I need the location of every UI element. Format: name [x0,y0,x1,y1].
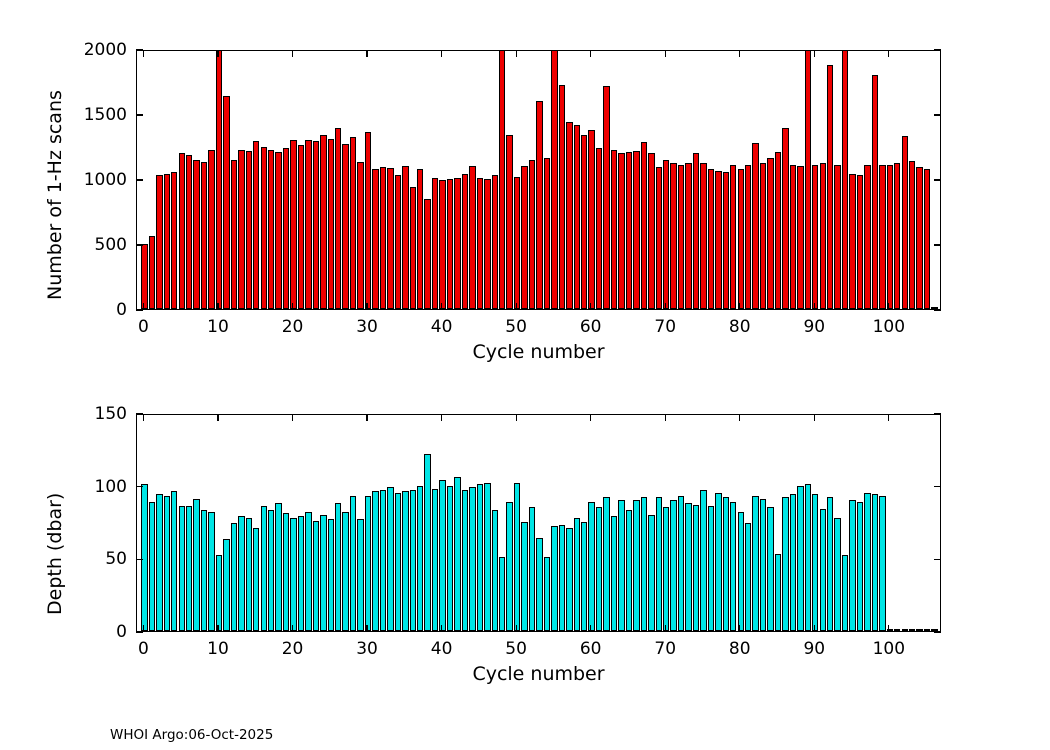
x-tick-mark [217,303,218,310]
bar [357,519,363,631]
bar [648,515,654,631]
bar [469,166,475,309]
bar [439,180,445,309]
bar [164,174,170,309]
bar [797,166,803,309]
x-tick-mark [217,414,218,421]
bar [790,494,796,631]
x-tick-mark [888,625,889,632]
x-axis-label-nscans: Cycle number [136,341,941,363]
bar [812,494,818,631]
y-tick-label: 2000 [0,40,127,60]
x-tick-mark [366,303,367,310]
x-tick-mark [590,625,591,632]
bar [298,516,304,631]
bar [223,539,229,631]
bar [730,502,736,631]
bar [827,497,833,631]
bar [268,150,274,309]
bar [179,506,185,631]
bar [186,155,192,309]
footer-credit: WHOI Argo:06-Oct-2025 [110,727,273,743]
bar [484,179,490,309]
bar [223,96,229,309]
bar [566,122,572,309]
bar [708,506,714,631]
x-tick-mark [590,414,591,421]
x-tick-mark [441,414,442,421]
bar [700,163,706,309]
bar [864,165,870,309]
bar [447,179,453,309]
y-tick-mark [136,559,143,560]
bar [849,174,855,309]
bar [246,518,252,631]
bar [633,151,639,309]
x-tick-mark [590,303,591,310]
bar [499,557,505,631]
x-tick-mark [292,50,293,57]
bar [834,165,840,309]
bar [656,497,662,631]
bar [410,490,416,631]
bar [275,503,281,631]
bar [894,163,900,309]
panel-nscans: 11027: 1-Hz Nscans 0500100015002000 0102… [0,0,1050,370]
bar [775,554,781,631]
x-tick-label: 0 [138,317,149,337]
x-tick-mark [292,303,293,310]
bar [916,167,922,309]
x-tick-label: 100 [873,639,905,659]
x-tick-mark [366,50,367,57]
y-tick-label: 0 [0,622,127,642]
bar [551,50,557,309]
x-tick-label: 70 [654,639,676,659]
y-tick-mark [934,244,941,245]
bar [909,629,915,631]
bar [156,494,162,631]
y-tick-label: 150 [0,404,127,424]
bar [693,505,699,631]
bar [618,153,624,309]
bar [574,518,580,631]
x-tick-label: 10 [207,639,229,659]
bar [834,518,840,631]
bar [298,145,304,309]
bar [663,160,669,309]
bar [544,158,550,309]
bar [708,169,714,309]
y-tick-label: 0 [0,300,127,320]
x-tick-mark [739,625,740,632]
bar [805,484,811,631]
bar [454,178,460,309]
bar [544,557,550,631]
bar [395,493,401,631]
x-tick-label: 60 [580,317,602,337]
bar [432,489,438,631]
bar [246,151,252,309]
bar [492,510,498,631]
y-tick-mark [136,114,143,115]
bar [648,153,654,309]
bar [857,175,863,309]
bar [588,130,594,309]
x-tick-label: 10 [207,317,229,337]
bar [767,507,773,631]
bar [738,169,744,309]
bar [365,132,371,309]
bar [335,503,341,631]
bar-series-nscans [137,51,940,309]
bar [357,162,363,309]
bar [439,480,445,631]
bar [447,486,453,631]
y-tick-mark [136,179,143,180]
bar [350,137,356,309]
bar [156,175,162,309]
bar [328,139,334,309]
bar [193,499,199,631]
x-tick-mark [739,303,740,310]
bar [551,526,557,631]
bar [596,148,602,309]
x-tick-label: 20 [282,639,304,659]
bar [149,502,155,631]
bar [432,178,438,309]
x-tick-label: 20 [282,317,304,337]
bar [477,178,483,309]
bar [320,135,326,309]
bar [350,496,356,631]
bar [879,496,885,631]
x-tick-mark [814,50,815,57]
bar [469,487,475,631]
x-tick-mark [739,50,740,57]
y-axis-label-nscans: Number of 1-Hz scans [44,90,66,300]
y-tick-mark [934,309,941,310]
x-tick-label: 40 [431,639,453,659]
bar [179,153,185,309]
bar [715,493,721,631]
bar [305,512,311,631]
x-tick-label: 60 [580,639,602,659]
x-tick-mark [665,303,666,310]
bar [566,528,572,631]
bar [827,65,833,309]
bar [559,85,565,309]
bar [633,500,639,631]
bar [238,150,244,309]
x-tick-mark [665,50,666,57]
bar [462,490,468,631]
x-tick-mark [665,625,666,632]
bar [782,497,788,631]
y-tick-mark [136,486,143,487]
bar [193,160,199,310]
bar [283,513,289,631]
bar [417,486,423,631]
x-tick-label: 70 [654,317,676,337]
bar [581,522,587,631]
x-tick-mark [366,414,367,421]
bar [514,483,520,631]
bar [790,165,796,309]
bar [894,629,900,631]
bar [253,528,259,631]
bar [365,496,371,631]
bar [402,491,408,631]
bar [820,163,826,309]
y-tick-mark [934,114,941,115]
axes-depth: 11027: possible depth of hi-res if full … [136,414,941,632]
axes-nscans: 11027: 1-Hz Nscans [136,50,941,310]
bar [745,165,751,309]
x-tick-mark [143,625,144,632]
bar [417,169,423,309]
bar [700,490,706,631]
y-axis-label-depth: Depth (dbar) [44,493,66,615]
bar [574,125,580,309]
bar [253,141,259,309]
bar [857,502,863,631]
bar [678,496,684,631]
bar [268,510,274,631]
bar [313,521,319,631]
bar [387,168,393,309]
x-tick-mark [888,303,889,310]
bar [559,525,565,631]
bar [536,101,542,309]
x-tick-label: 90 [803,639,825,659]
bar [529,160,535,310]
bar [231,523,237,631]
bar [477,484,483,631]
bar [745,523,751,631]
bar [484,483,490,631]
bar [261,147,267,310]
bar [738,512,744,631]
bar [141,244,147,309]
bar [499,50,505,309]
x-tick-mark [217,50,218,57]
bar [916,629,922,631]
bar [626,152,632,309]
bar [506,502,512,631]
bar [283,148,289,309]
bar [313,141,319,309]
bar [641,142,647,309]
bar [186,506,192,631]
x-tick-mark [143,303,144,310]
x-tick-mark [441,303,442,310]
bar [842,555,848,631]
bar [879,165,885,309]
bar [715,171,721,309]
bar [603,86,609,309]
x-tick-mark [516,625,517,632]
bar [261,506,267,631]
bar [171,491,177,631]
bar [171,172,177,309]
bar [506,135,512,309]
bar [216,555,222,631]
bar [596,507,602,631]
bar [805,50,811,309]
bar [782,128,788,309]
bar [216,50,222,309]
x-tick-mark [143,50,144,57]
bar [618,500,624,631]
bar [290,518,296,631]
bar [767,158,773,309]
panel-depth: 11027: possible depth of hi-res if full … [0,370,1050,740]
bar [588,502,594,631]
figure-root: 11027: 1-Hz Nscans 0500100015002000 0102… [0,0,1050,750]
bar [201,510,207,631]
bar [342,512,348,631]
bar [641,497,647,631]
bar [402,166,408,309]
bar [208,150,214,309]
x-tick-label: 90 [803,317,825,337]
bar [275,152,281,309]
x-tick-mark [888,50,889,57]
bar [164,496,170,631]
x-tick-label: 80 [729,317,751,337]
bar [663,507,669,631]
bar [864,493,870,631]
bar [760,499,766,631]
bar [521,522,527,631]
x-axis-label-depth: Cycle number [136,663,941,685]
x-tick-mark [217,625,218,632]
bar [723,172,729,309]
bar [752,143,758,309]
bar [670,500,676,631]
bar [424,199,430,310]
bar [887,165,893,309]
bar [238,516,244,631]
x-tick-label: 30 [356,317,378,337]
bar [492,175,498,309]
bar [410,187,416,309]
bar [902,136,908,309]
x-tick-mark [516,303,517,310]
x-tick-mark [516,50,517,57]
bar [685,163,691,309]
bar [305,140,311,309]
bar [760,163,766,309]
bar [536,538,542,631]
bar [909,161,915,309]
bar [685,503,691,631]
bar [849,500,855,631]
bar [335,128,341,309]
bar [872,494,878,631]
y-tick-mark [934,49,941,50]
bar [454,477,460,631]
x-tick-label: 50 [505,317,527,337]
bar [290,140,296,309]
bar [149,236,155,309]
x-tick-mark [888,414,889,421]
bar [521,166,527,309]
x-tick-mark [441,50,442,57]
x-tick-mark [516,414,517,421]
bar [812,165,818,309]
bar [529,507,535,631]
bar [581,135,587,309]
bar [208,512,214,631]
x-tick-label: 0 [138,639,149,659]
bar [752,496,758,631]
bar [387,487,393,631]
x-tick-mark [441,625,442,632]
x-tick-mark [590,50,591,57]
bar [372,169,378,309]
bar [626,510,632,631]
y-tick-mark [934,486,941,487]
bar [924,629,930,631]
bar [611,150,617,309]
bar [320,515,326,631]
bar [678,165,684,309]
bar [395,175,401,309]
x-tick-label: 40 [431,317,453,337]
bar [775,152,781,309]
y-tick-mark [934,559,941,560]
bar [201,162,207,309]
bar [372,491,378,631]
bar [380,167,386,309]
x-tick-mark [665,414,666,421]
x-tick-label: 30 [356,639,378,659]
bar [231,160,237,310]
y-tick-mark [934,413,941,414]
x-tick-mark [143,414,144,421]
bar [342,144,348,309]
bar [924,169,930,309]
x-tick-mark [366,625,367,632]
bar [820,509,826,631]
bar [723,497,729,631]
x-tick-mark [739,414,740,421]
y-tick-mark [934,631,941,632]
x-tick-mark [814,303,815,310]
x-tick-label: 80 [729,639,751,659]
bar [328,519,334,631]
x-tick-mark [814,414,815,421]
bar [693,153,699,309]
bar [462,174,468,309]
bar [611,516,617,631]
x-tick-label: 50 [505,639,527,659]
y-tick-mark [934,179,941,180]
bar [902,629,908,631]
bar [603,497,609,631]
bar [656,167,662,309]
bar [141,484,147,631]
x-tick-mark [292,625,293,632]
bar [842,50,848,309]
y-tick-mark [136,244,143,245]
x-tick-mark [814,625,815,632]
bar [797,486,803,631]
bar [670,163,676,309]
x-tick-label: 100 [873,317,905,337]
